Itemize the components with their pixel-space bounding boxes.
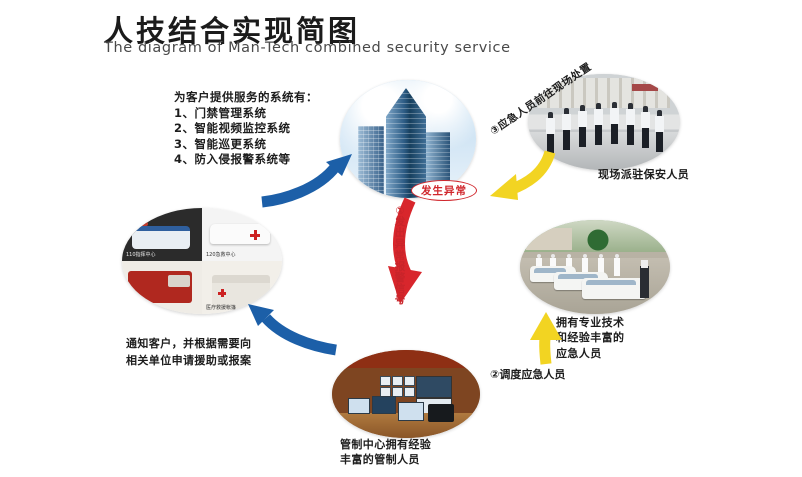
ambulance-label: 120急救中心 (206, 251, 236, 258)
caption-guards: 现场派驻保安人员 (598, 168, 689, 183)
patrol-car (582, 278, 646, 299)
arrow-yellow-to-guards (486, 138, 558, 202)
fire-label: 119消防中心 (126, 304, 156, 311)
fire-truck (128, 271, 192, 303)
building-left (358, 126, 384, 198)
quadrant-police: 110指挥中心 (122, 208, 202, 261)
diagram-canvas: 人技结合实现简图 The diagram of Man-Tech combine… (0, 0, 802, 477)
caption-notify-client: 通知客户，并根据需要向 相关单位申请援助或报案 (126, 336, 251, 369)
staff-figure (614, 258, 620, 276)
step1-label: ①发出异常报警信号 (392, 206, 408, 306)
ceiling (332, 350, 480, 368)
arrow-blue-to-building (256, 150, 356, 210)
tent-label: 医疗救援帐篷 (206, 304, 236, 311)
photo-control-center (332, 350, 480, 438)
police-label: 110指挥中心 (126, 251, 156, 258)
page-subtitle: The diagram of Man-Tech combined securit… (104, 40, 511, 56)
background-wall (526, 228, 572, 250)
desk-monitor (428, 404, 454, 422)
video-wall (416, 376, 452, 398)
guard-figure (640, 266, 649, 298)
photo-patrol-cars (520, 220, 670, 314)
wall-monitor (404, 387, 415, 397)
wall-monitor (392, 376, 403, 386)
guard-figure (562, 108, 571, 148)
desk-monitor (398, 402, 424, 421)
caption-control-center: 管制中心拥有经验 丰富的管制人员 (340, 437, 431, 468)
police-car (132, 226, 190, 249)
arrow-yellow-to-cars (522, 310, 582, 370)
photo-emergency-units: 110指挥中心 120急救中心 119消防中心 医疗救援帐篷 (122, 208, 282, 314)
desk-monitor (372, 396, 396, 414)
step2-label: ②调度应急人员 (490, 368, 565, 383)
guard-figure (610, 102, 619, 142)
wall-monitor (404, 376, 415, 386)
guard-figure (641, 106, 650, 146)
guard-figure (594, 103, 603, 143)
red-cross-icon (250, 230, 260, 240)
desk-monitor (348, 398, 370, 414)
guard-figure (578, 105, 587, 145)
quadrant-ambulance: 120急救中心 (202, 208, 282, 261)
guard-figure (655, 110, 664, 150)
wall-monitor (380, 376, 391, 386)
palm-tree (578, 222, 618, 252)
arrow-blue-to-emergency (244, 300, 344, 356)
ambulance (210, 224, 270, 244)
guard-figure (626, 103, 635, 143)
quadrant-fire: 119消防中心 (122, 261, 202, 314)
